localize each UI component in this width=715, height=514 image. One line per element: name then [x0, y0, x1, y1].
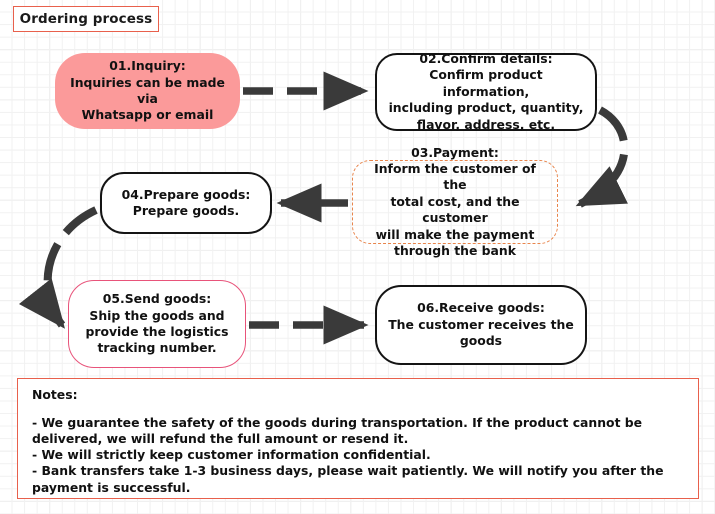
process-node-confirm-details-label: 02.Confirm details: Confirm product info…: [385, 51, 587, 133]
process-node-inquiry-label: 01.Inquiry: Inquiries can be made via Wh…: [63, 58, 232, 124]
note-line: - Bank transfers take 1-3 business days,…: [32, 463, 686, 495]
note-line: - We will strictly keep customer informa…: [32, 447, 686, 463]
process-node-prepare-goods[interactable]: 04.Prepare goods: Prepare goods.: [100, 172, 272, 234]
process-node-payment-label: 03.Payment: Inform the customer of the t…: [361, 145, 549, 260]
process-node-confirm-details[interactable]: 02.Confirm details: Confirm product info…: [375, 53, 597, 131]
process-node-receive-goods-label: 06.Receive goods: The customer receives …: [388, 300, 574, 349]
process-node-prepare-goods-label: 04.Prepare goods: Prepare goods.: [122, 187, 251, 220]
notes-title: Notes:: [32, 387, 686, 402]
notes-panel: Notes: - We guarantee the safety of the …: [17, 378, 699, 499]
process-node-payment[interactable]: 03.Payment: Inform the customer of the t…: [352, 160, 558, 244]
process-node-send-goods-label: 05.Send goods: Ship the goods and provid…: [85, 291, 228, 357]
process-node-inquiry[interactable]: 01.Inquiry: Inquiries can be made via Wh…: [55, 53, 240, 129]
process-node-send-goods[interactable]: 05.Send goods: Ship the goods and provid…: [68, 280, 246, 368]
diagram-canvas: Ordering process 01.Inquiry:: [0, 0, 715, 514]
note-line: - We guarantee the safety of the goods d…: [32, 415, 686, 447]
process-node-receive-goods[interactable]: 06.Receive goods: The customer receives …: [375, 285, 587, 365]
